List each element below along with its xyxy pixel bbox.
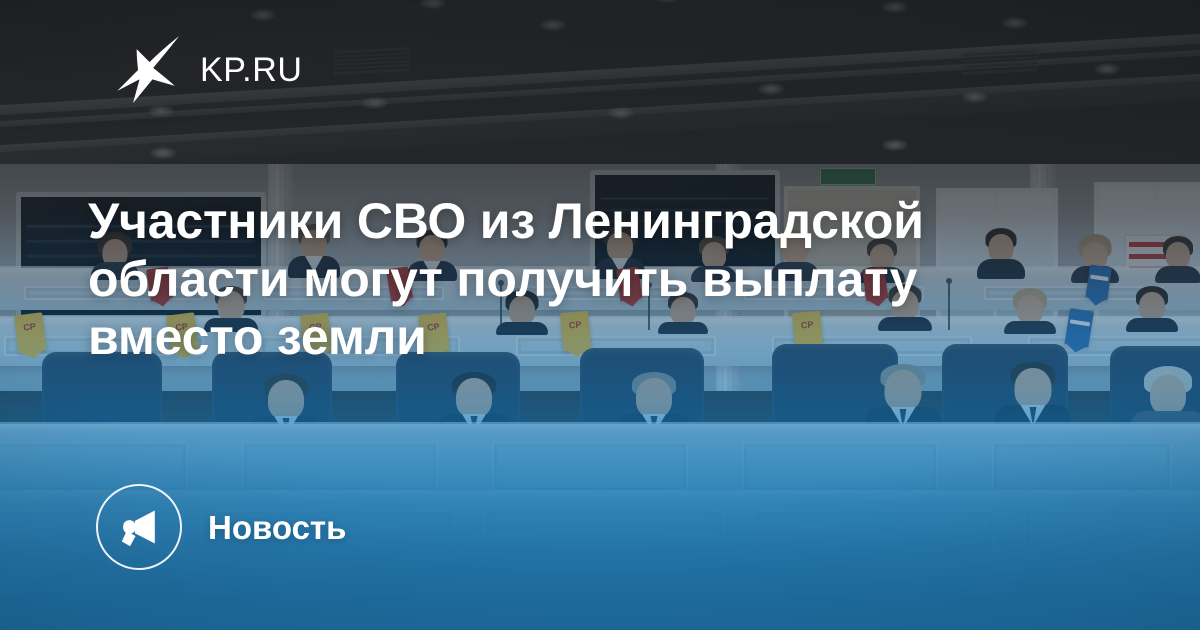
brand-logo[interactable]: KP.RU	[110, 34, 303, 106]
headline-line-1: Участники СВО из Ленинградской	[88, 192, 1088, 250]
page-title: Участники СВО из Ленинградской области м…	[88, 192, 1088, 366]
swallow-bird-icon	[110, 34, 182, 106]
category-label[interactable]: Новость	[96, 484, 346, 570]
headline-line-3: вместо земли	[88, 308, 1088, 366]
megaphone-badge	[96, 484, 182, 570]
category-label-text: Новость	[208, 511, 346, 544]
headline-line-2: области могут получить выплату	[88, 250, 1088, 308]
brand-wordmark: KP.RU	[200, 53, 303, 87]
news-card: СР СР СР СР СР СР	[0, 0, 1200, 630]
megaphone-icon	[117, 505, 161, 549]
